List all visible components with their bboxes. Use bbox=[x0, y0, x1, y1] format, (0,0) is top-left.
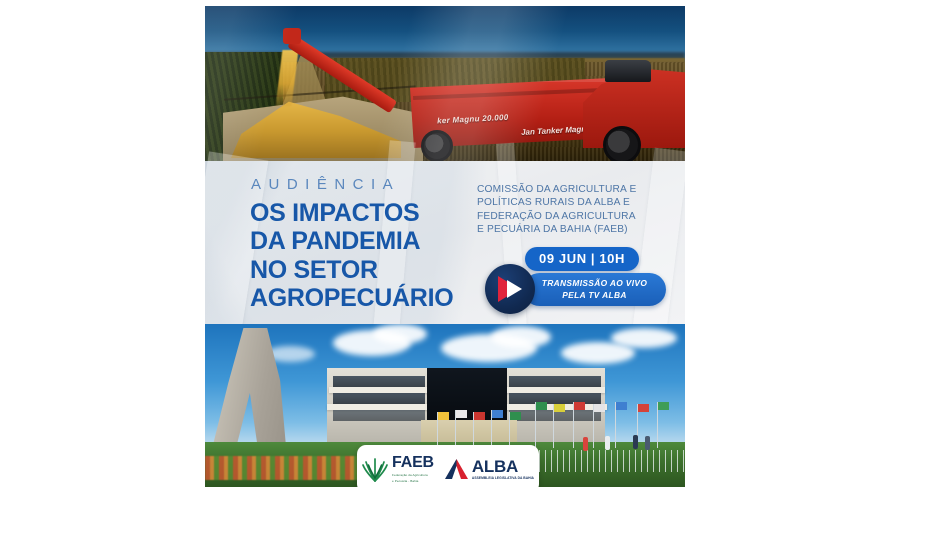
alba-building-photo: FAEB Federação da Agricultura e Pecuária… bbox=[205, 324, 685, 487]
combine-cab bbox=[605, 60, 651, 82]
cloud-6 bbox=[611, 328, 677, 348]
cloud-4 bbox=[491, 326, 551, 348]
flag-2 bbox=[456, 410, 467, 418]
faeb-subtitle-line-1: Federação da Agricultura bbox=[392, 473, 434, 477]
headline-line-1: OS IMPACTOS bbox=[250, 199, 490, 227]
organizers-block: COMISSÃO DA AGRICULTURA E POLÍTICAS RURA… bbox=[477, 183, 667, 237]
flag-3 bbox=[474, 412, 485, 420]
building-floor-3-left bbox=[333, 410, 425, 421]
live-line-1: TRANSMISSÃO AO VIVO bbox=[523, 278, 666, 290]
live-broadcast-pill[interactable]: TRANSMISSÃO AO VIVO PELA TV ALBA bbox=[523, 273, 666, 306]
auger-head bbox=[283, 28, 301, 44]
combine-wheel bbox=[603, 126, 641, 161]
alba-triangle-icon bbox=[444, 458, 469, 480]
headline-line-4: AGROPECUÁRIO bbox=[250, 284, 490, 312]
cart-wheel-left bbox=[421, 130, 453, 161]
organizer-line-4: E PECUÁRIA DA BAHIA (FAEB) bbox=[477, 223, 667, 236]
flag-8 bbox=[574, 402, 585, 410]
faeb-wordmark: FAEB Federação da Agricultura e Pecuária… bbox=[392, 455, 434, 482]
organizer-line-3: FEDERAÇÃO DA AGRICULTURA bbox=[477, 210, 667, 223]
person-4 bbox=[645, 436, 650, 450]
flag-1 bbox=[438, 412, 449, 420]
alba-name: ALBA bbox=[472, 458, 534, 475]
person-1 bbox=[583, 437, 588, 451]
building-floor-2-right bbox=[509, 393, 601, 404]
flag-5 bbox=[510, 412, 521, 420]
flag-11 bbox=[638, 404, 649, 412]
faeb-subtitle-line-2: e Pecuária - Bahia bbox=[392, 479, 434, 483]
flag-10 bbox=[616, 402, 627, 410]
paper-crease-4 bbox=[632, 148, 685, 341]
person-2 bbox=[605, 436, 610, 450]
poster-headline: OS IMPACTOS DA PANDEMIA NO SETOR AGROPEC… bbox=[250, 199, 490, 312]
alba-subtitle: ASSEMBLEIA LEGISLATIVA DA BAHIA bbox=[472, 477, 534, 480]
faeb-logo: FAEB Federação da Agricultura e Pecuária… bbox=[362, 455, 434, 482]
headline-line-2: DA PANDEMIA bbox=[250, 227, 490, 255]
faeb-wheat-icon bbox=[362, 456, 388, 482]
person-3 bbox=[633, 435, 638, 449]
faeb-name: FAEB bbox=[392, 455, 434, 471]
alba-wordmark: ALBA ASSEMBLEIA LEGISLATIVA DA BAHIA bbox=[472, 458, 534, 480]
logo-card: FAEB Federação da Agricultura e Pecuária… bbox=[357, 445, 539, 487]
cloud-2 bbox=[373, 324, 427, 344]
live-broadcast-label: TRANSMISSÃO AO VIVO PELA TV ALBA bbox=[523, 278, 666, 302]
building-floor-1-right bbox=[509, 376, 601, 387]
info-band: AUDIÊNCIA OS IMPACTOS DA PANDEMIA NO SET… bbox=[205, 161, 685, 324]
live-line-2: PELA TV ALBA bbox=[523, 290, 666, 302]
alba-logo: ALBA ASSEMBLEIA LEGISLATIVA DA BAHIA bbox=[444, 458, 534, 480]
flag-4 bbox=[492, 410, 503, 418]
event-poster: ker Magnu 20.000 Jan Tanker Magnu 20 AUD… bbox=[205, 6, 685, 487]
building-floor-2-left bbox=[333, 393, 425, 404]
harvest-photo: ker Magnu 20.000 Jan Tanker Magnu 20 bbox=[205, 6, 685, 161]
poster-eyebrow: AUDIÊNCIA bbox=[251, 176, 400, 193]
organizer-line-1: COMISSÃO DA AGRICULTURA E bbox=[477, 183, 667, 196]
event-date-badge: 09 JUN | 10H bbox=[525, 247, 639, 271]
play-triangle-white bbox=[507, 280, 522, 298]
headline-line-3: NO SETOR bbox=[250, 256, 490, 284]
flag-9 bbox=[594, 404, 605, 412]
flag-6 bbox=[536, 402, 547, 410]
flag-7 bbox=[554, 404, 565, 412]
building-floor-1-left bbox=[333, 376, 425, 387]
organizer-line-2: POLÍTICAS RURAIS DA ALBA E bbox=[477, 196, 667, 209]
flag-12 bbox=[658, 402, 669, 410]
play-icon[interactable] bbox=[485, 264, 535, 314]
